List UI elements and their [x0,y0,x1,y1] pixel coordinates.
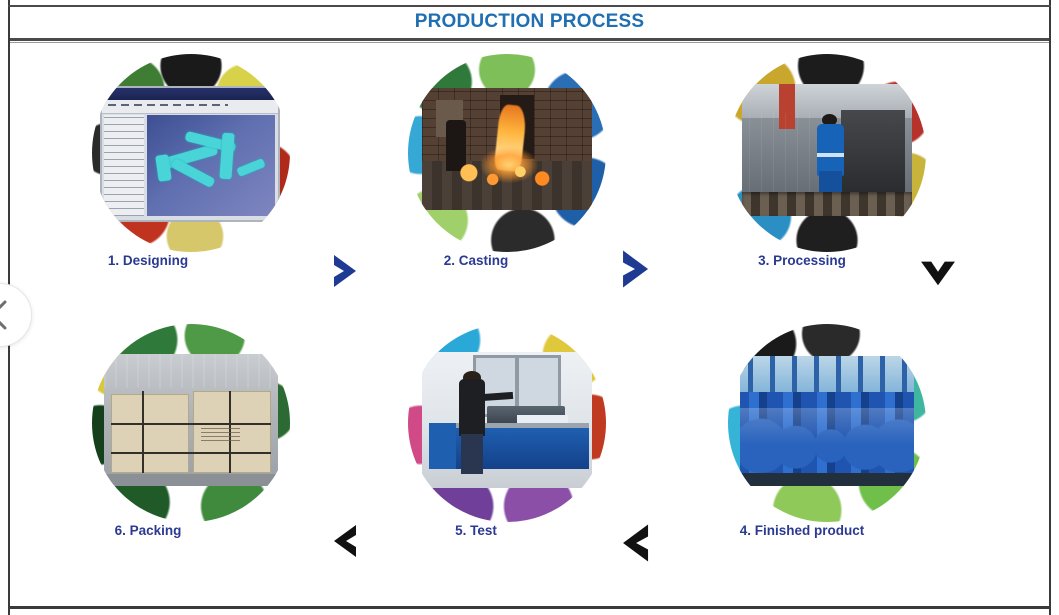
crate-strap-vertical [142,391,144,473]
valve-sheen [740,408,914,460]
cnc-machine-secondary [841,110,906,192]
step-image-wrap-packing [92,324,290,522]
page-title: PRODUCTION PROCESS [415,11,645,33]
test-lab-scene [422,352,592,488]
monitor-titlebar [102,88,278,100]
flow-step-processing[interactable]: 3. Processing [662,48,992,316]
cad-model [147,115,275,216]
step-image-packing [92,324,290,522]
monitor-graphic [102,88,278,220]
header-band: PRODUCTION PROCESS [10,7,1049,37]
photo-finished-product [728,324,926,522]
step-image-wrap-designing [92,54,290,252]
frame-border-bottom [8,606,1051,609]
step-image-finished-product [728,324,926,522]
flow-row-bottom: 6. Packing [12,318,1047,586]
step-label-designing: 1. Designing [30,253,266,268]
flow-step-designing[interactable]: 1. Designing [26,48,356,316]
foundry-scene [422,88,592,210]
step-image-wrap-test [408,324,606,522]
step-label-finished-product: 4. Finished product [672,523,932,538]
step-image-wrap-casting [408,54,606,252]
valve-warehouse-scene [740,356,914,486]
header-divider-shadow [10,42,1049,43]
step-image-casting [408,54,606,252]
step-image-test [408,324,606,522]
sparks [459,164,558,186]
photo-test [408,324,606,522]
flow-step-finished-product[interactable]: 4. Finished product [662,318,992,586]
warehouse-backdrop [104,354,278,388]
step-label-processing: 3. Processing [672,253,932,268]
chevron-left-icon [0,298,13,332]
flow-row-top: 1. Designing [12,48,1047,316]
flow-arrow-finished-to-test [610,518,656,564]
crate-strap-horizontal [111,452,271,454]
chevron-down-icon [912,248,964,300]
production-process-infographic: PRODUCTION PROCESS [0,0,1059,615]
step-image-wrap-processing [728,54,926,252]
technician-legs [461,434,483,475]
photo-casting [408,54,606,252]
technician-body [459,379,485,436]
frame-border-right [1049,0,1051,615]
flow-content: 1. Designing [12,46,1047,603]
flow-arrow-processing-to-finished [912,248,958,294]
control-cabinet [429,423,456,469]
photo-packing [92,324,290,522]
flow-step-packing[interactable]: 6. Packing [26,318,356,586]
crate-marking [201,428,239,441]
photo-cad-design [92,54,290,252]
warehouse-floor [740,473,914,486]
crate-strap-horizontal [111,423,271,425]
step-label-packing: 6. Packing [30,523,266,538]
photo-processing [728,54,926,252]
step-label-test: 5. Test [358,523,594,538]
flow-arrow-casting-to-processing [610,244,656,290]
warehouse-floor [104,474,278,486]
header-divider [10,38,1049,41]
machined-parts-row [742,192,912,216]
step-image-designing [92,54,290,252]
chevron-right-icon [610,244,660,294]
step-image-processing [728,54,926,252]
packing-scene [104,354,278,486]
monitor-toolbar [102,100,278,114]
flow-step-casting[interactable]: 2. Casting [342,48,672,316]
monitor-viewport [147,115,275,216]
chevron-left-icon [610,518,660,568]
worker-uniform-stripe [817,153,844,157]
step-label-casting: 2. Casting [358,253,594,268]
wooden-crate-left [111,394,189,473]
monitor-sidepanel [104,115,144,216]
flow-step-test[interactable]: 5. Test [342,318,672,586]
step-image-wrap-finished-product [728,324,926,522]
worker-body [817,124,844,177]
machine-shop-scene [742,84,912,216]
